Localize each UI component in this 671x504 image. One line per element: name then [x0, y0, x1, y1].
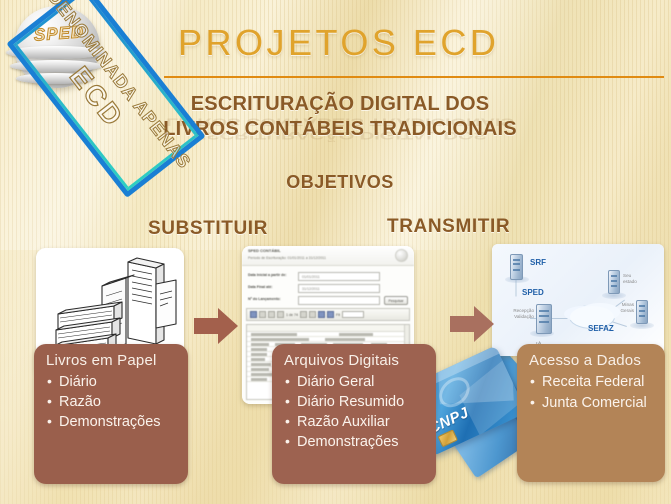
caption-panel-digital-files: Arquivos Digitais Diário Geral Diário Re… — [272, 344, 436, 484]
page-indicator: 1 de 74 — [286, 313, 298, 317]
flow-arrow-1-icon — [192, 305, 240, 347]
server-sped-icon — [536, 304, 552, 334]
list-item: Junta Comercial — [529, 393, 655, 414]
server-minas-gerais-icon — [636, 300, 648, 324]
panel-title: Acesso a Dados — [529, 352, 655, 369]
app-form-row: Data Inicial a partir de: 01/01/2011 — [248, 272, 408, 281]
panel-title: Arquivos Digitais — [284, 352, 426, 369]
list-item: Demonstrações — [284, 432, 426, 452]
panel-list: Diário Razão Demonstrações — [46, 372, 178, 432]
app-form-row: Nº do Lançamento: Pesquisar — [248, 296, 408, 305]
app-field-input[interactable]: 01/01/2011 — [298, 272, 380, 281]
page-subtitle: ESCRITURAÇÃO DIGITAL DOS LIVROS CONTÁBEI… — [160, 92, 520, 142]
step-label-substituir: SUBSTITUIR — [148, 218, 268, 240]
app-form-row: Data Final até: 31/12/2011 — [248, 284, 408, 293]
export-icon[interactable] — [250, 311, 257, 318]
prev-page-icon[interactable] — [277, 311, 284, 318]
first-page-icon[interactable] — [268, 311, 275, 318]
zoom-level: Fit — [336, 313, 340, 317]
app-report-toolbar[interactable]: 1 de 74 Fit — [246, 308, 410, 321]
caption-panel-data-access: Acesso a Dados Receita Federal Junta Com… — [517, 344, 665, 482]
title-divider — [164, 76, 664, 78]
list-item: Diário — [46, 372, 178, 392]
network-sublabel-seu-estado: Seuestado — [623, 273, 637, 285]
list-item: Demonstrações — [46, 412, 178, 432]
last-page-icon[interactable] — [309, 311, 316, 318]
report-title — [247, 325, 409, 332]
network-sublabel-recepcao: RecepçãoValidação — [496, 308, 534, 320]
search-input[interactable] — [342, 311, 364, 318]
zoom-out-icon[interactable] — [327, 311, 334, 318]
panel-list: Receita Federal Junta Comercial — [529, 372, 655, 414]
ecd-callout-box: DENOMINADA APENAS ECD — [6, 0, 205, 198]
caption-panel-paper-books: Livros em Papel Diário Razão Demonstraçõ… — [34, 344, 188, 484]
server-seu-estado-icon — [608, 270, 620, 294]
list-item: Diário Geral — [284, 372, 426, 392]
app-titlebar: SPED CONTÁBIL Período de Escrituração: 0… — [242, 246, 414, 266]
app-window-title: SPED CONTÁBIL — [248, 248, 281, 253]
list-item: Razão Auxiliar — [284, 412, 426, 432]
app-search-button[interactable]: Pesquisar — [384, 296, 408, 305]
panel-title: Livros em Papel — [46, 352, 178, 369]
app-field-label: Nº do Lançamento: — [248, 297, 281, 301]
zoom-in-icon[interactable] — [318, 311, 325, 318]
flow-arrow-2-icon — [448, 303, 496, 345]
app-window-subtitle: Período de Escrituração: 01/01/2011 a 31… — [248, 256, 326, 260]
network-label-sefaz: SEFAZ — [588, 324, 614, 333]
list-item: Razão — [46, 392, 178, 412]
page-title: PROJETOS ECD — [178, 22, 648, 64]
slide-canvas: SPED DENOMINADA APENAS ECD PROJETOS ECD … — [0, 0, 671, 504]
panel-list: Diário Geral Diário Resumido Razão Auxil… — [284, 372, 426, 452]
objetivos-heading: OBJETIVOS — [160, 172, 520, 193]
list-item: Receita Federal — [529, 372, 655, 393]
next-page-icon[interactable] — [300, 311, 307, 318]
app-field-label: Data Final até: — [248, 285, 273, 289]
server-srf-icon — [510, 254, 523, 280]
app-field-label: Data Inicial a partir de: — [248, 273, 287, 277]
subtitle-line2: LIVROS CONTÁBEIS TRADICIONAIS — [160, 117, 520, 142]
step-label-transmitir: TRANSMITIR — [387, 216, 510, 238]
app-field-input[interactable]: 31/12/2011 — [298, 284, 380, 293]
network-label-srf: SRF — [530, 258, 546, 267]
list-item: Diário Resumido — [284, 392, 426, 412]
app-logo-icon — [395, 249, 408, 262]
network-label-sped: SPED — [522, 288, 544, 297]
network-diagram: SRF SPED RecepçãoValidação Seuestado Min… — [492, 244, 664, 356]
network-sublabel-minas: MinasGerais — [612, 302, 634, 314]
app-field-input[interactable] — [298, 296, 380, 305]
print-icon[interactable] — [259, 311, 266, 318]
image-card-network-diagram: SRF SPED RecepçãoValidação Seuestado Min… — [492, 244, 664, 356]
subtitle-line1: ESCRITURAÇÃO DIGITAL DOS — [160, 92, 520, 117]
